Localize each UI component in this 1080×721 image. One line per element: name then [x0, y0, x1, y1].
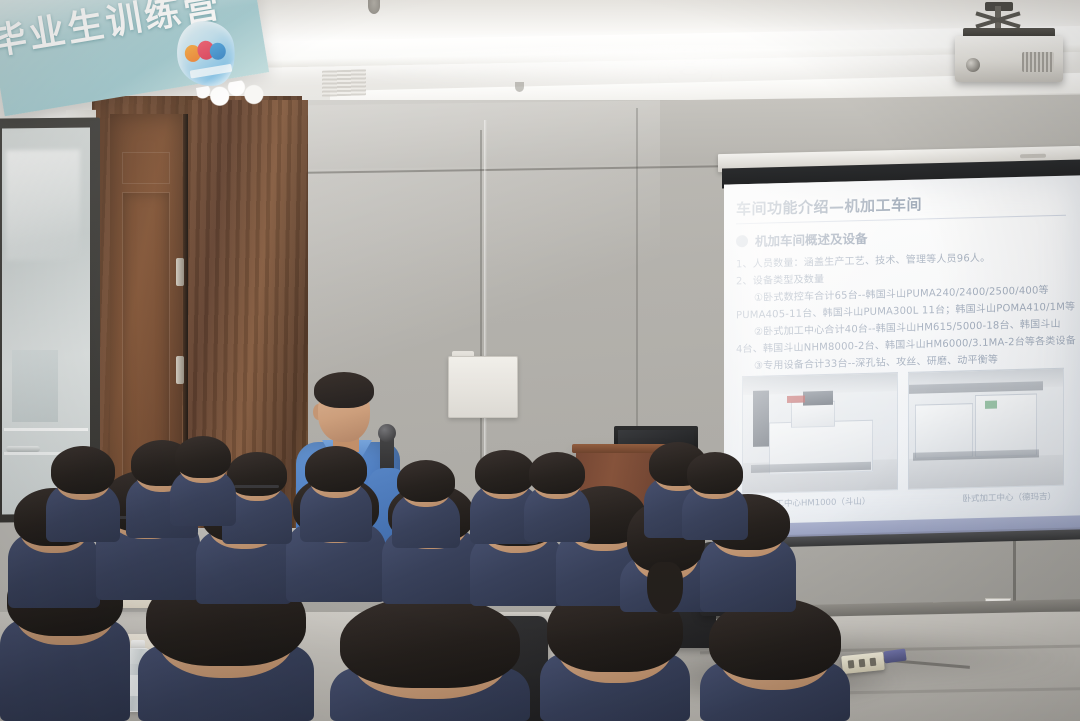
conference-room-photo: — — — — — — 毕业生训练营 车间功能介绍—机加工车间 机加车间概述及设… — [0, 0, 1080, 721]
attendee-19 — [392, 460, 460, 548]
attendee-hair — [397, 460, 455, 502]
attendee-21 — [524, 452, 590, 542]
attendee-hair — [687, 452, 743, 494]
attendee-hair — [305, 446, 367, 492]
attendee-hair — [529, 452, 585, 494]
attendee-18 — [300, 446, 372, 542]
eyeglasses-icon — [234, 485, 278, 488]
attendee-23 — [682, 452, 748, 540]
attendee-24 — [170, 436, 236, 526]
audience-row-back — [0, 0, 1080, 721]
attendee-hair — [51, 446, 115, 494]
attendee-hair — [175, 436, 231, 478]
attendee-15 — [46, 446, 120, 542]
attendee-hair — [227, 452, 287, 496]
